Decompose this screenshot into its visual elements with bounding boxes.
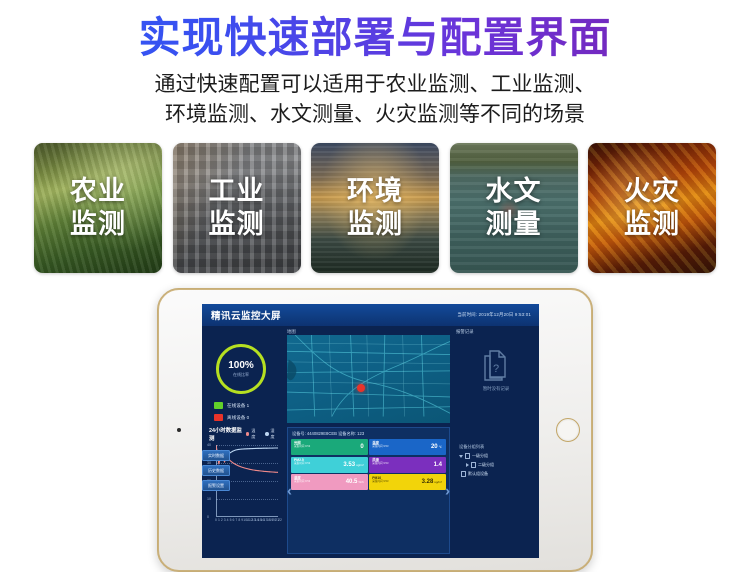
chart-xtick: 1	[218, 518, 220, 522]
chart-point	[255, 470, 256, 471]
chart-x-tick-labels: 012345678910111213141516171819202122	[216, 518, 280, 525]
chart-xtick: 22	[278, 518, 282, 522]
chart-point	[269, 448, 270, 449]
chart-point	[255, 448, 256, 449]
card-label-line-2: 监测	[347, 208, 403, 241]
online-rate-gauge: 100% 在线比率	[216, 344, 266, 394]
device-group-caption: 设备分组列表	[459, 444, 535, 450]
chart-xtick: 0	[215, 518, 217, 522]
category-card-environment[interactable]: 环境 监测	[311, 143, 439, 273]
device-group-tree: 设备分组列表 一级分组 二级分组 默	[459, 444, 535, 480]
chart-point	[246, 448, 247, 449]
chart-point	[275, 448, 276, 449]
sensor-tile-pm25[interactable]: PM2.5 采集时间 9:53 3.53ug/m³	[291, 457, 368, 473]
tree-node-label: 二级分组	[478, 462, 494, 468]
chart-point	[272, 472, 273, 473]
sensor-tile-light[interactable]: 光照 采集时间 9:53 0	[291, 439, 368, 455]
chart-xtick: 2	[221, 518, 223, 522]
chart-point	[252, 469, 253, 470]
gauge-value: 100%	[228, 360, 254, 371]
chart-x-axis	[216, 516, 278, 517]
chart-point	[252, 448, 253, 449]
current-time-label: 当前时间: 2019年12月20日 9:53:01	[457, 312, 531, 318]
sensor-value: 20℃	[431, 444, 442, 450]
chart-point	[272, 448, 273, 449]
subtitle-line-1: 通过快速配置可以适用于农业监测、工业监测、	[0, 70, 750, 100]
category-card-list: 农业 监测 工业 监测 环境 监测 水文 测量	[34, 143, 716, 273]
tree-node-level-1[interactable]: 一级分组	[459, 453, 535, 459]
chart-point	[249, 448, 250, 449]
alarm-records-caption: 报警记录	[456, 329, 539, 335]
chart-point	[241, 466, 242, 467]
device-id-label: 设备号: 4440829E8CEB 设备名称: 123	[288, 428, 449, 439]
chart-xtick: 4	[227, 518, 229, 522]
home-button[interactable]	[556, 418, 580, 442]
device-detail-panel: 设备号: 4440829E8CEB 设备名称: 123 光照 采集时间 9:53…	[287, 427, 450, 554]
sensor-timestamp: 采集时间 9:53	[294, 445, 365, 448]
card-label-environment: 环境 监测	[311, 143, 439, 273]
chevron-right-icon[interactable]	[466, 463, 469, 467]
category-card-fire[interactable]: 火灾 监测	[588, 143, 716, 273]
chart-gridline	[216, 499, 278, 500]
sensor-value: 1.4	[434, 462, 442, 468]
dashboard-right-column: 报警记录 ? 暂时没有记录 设备分组列表	[453, 326, 539, 558]
legend-swatch-offline	[214, 414, 223, 421]
card-label-hydrology: 水文 测量	[450, 143, 578, 273]
tablet-device: 精讯云监控大屏 当前时间: 2019年12月20日 9:53:01 100% 在…	[157, 288, 593, 572]
page-subtitle: 通过快速配置可以适用于农业监测、工业监测、 环境监测、水文测量、火灾监测等不同的…	[0, 70, 750, 130]
card-label-line-2: 监测	[209, 208, 265, 241]
chart-point	[269, 471, 270, 472]
sensor-value: 40.5%rh	[346, 479, 364, 485]
legend-item-online: 在线设备 1	[214, 402, 249, 409]
sensor-value-number: 3.28	[422, 479, 434, 485]
chart-point	[235, 450, 236, 451]
chart-ytick-10: 10	[207, 497, 211, 501]
alarm-settings-button[interactable]: 报警设置	[202, 480, 230, 491]
category-card-hydrology[interactable]: 水文 测量	[450, 143, 578, 273]
chart-point	[249, 469, 250, 470]
sensor-tile-temperature[interactable]: 温度 采集时间 9:53 20℃	[369, 439, 446, 455]
next-device-arrow-icon[interactable]: ›	[445, 483, 450, 498]
dashboard-center-column: 地图	[284, 326, 453, 558]
chart-point	[238, 449, 239, 450]
chart-legend-label-humidity: 湿度	[271, 428, 278, 440]
chart-ytick-40: 40	[207, 443, 211, 447]
tree-node-label: 默认组设备	[468, 471, 488, 477]
legend-label-online: 在线设备 1	[227, 403, 249, 409]
chart-point	[241, 449, 242, 450]
folder-icon	[471, 462, 476, 468]
sensor-unit: ℃	[439, 445, 442, 449]
card-label-line-2: 监测	[624, 208, 680, 241]
card-label-agriculture: 农业 监测	[34, 143, 162, 273]
folder-icon	[465, 453, 470, 459]
tree-node-level-2[interactable]: 二级分组	[466, 462, 535, 468]
chart-point	[235, 464, 236, 465]
card-label-line-2: 监测	[70, 208, 126, 241]
chart-legend: 温度 湿度	[246, 428, 278, 440]
sensor-tile-grid: 光照 采集时间 9:53 0 温度 采集时间 9:53 20℃ PM2.5	[288, 439, 449, 493]
chart-point	[232, 451, 233, 452]
card-label-line-2: 测量	[486, 208, 542, 241]
chart-header: 24小时数据监测 温度 湿度	[207, 426, 280, 442]
map-road-lines	[287, 335, 450, 417]
sensor-tile-humidity[interactable]: 湿度 采集时间 9:53 40.5%rh	[291, 474, 368, 490]
sensor-tile-windspeed[interactable]: 风速 采集时间 9:53 1.4	[369, 457, 446, 473]
device-location-map[interactable]	[287, 335, 450, 423]
sensor-value: 3.53ug/m³	[343, 462, 363, 468]
category-card-agriculture[interactable]: 农业 监测	[34, 143, 162, 273]
alarm-empty-state: ? 暂时没有记录	[453, 348, 539, 392]
chart-point	[246, 468, 247, 469]
chart-xtick: 7	[235, 518, 237, 522]
chart-legend-dot-humidity	[265, 432, 269, 436]
sensor-unit: ug/m³	[434, 480, 442, 484]
card-label-fire: 火灾 监测	[588, 143, 716, 273]
chart-legend-dot-temperature	[246, 432, 250, 436]
realtime-data-button[interactable]: 实时数据	[202, 450, 230, 461]
sensor-value: 3.28ug/m³	[422, 479, 442, 485]
dashboard-left-column: 100% 在线比率 在线设备 1 离线设备 0	[202, 326, 284, 558]
chart-point	[232, 462, 233, 463]
chart-point	[258, 448, 259, 449]
sensor-tile-pm10[interactable]: PM10 采集时间 9:53 3.28ug/m³	[369, 474, 446, 490]
sensor-value-number: 40.5	[346, 479, 358, 485]
chart-point	[261, 470, 262, 471]
chart-point	[244, 448, 245, 449]
chart-point	[263, 471, 264, 472]
chevron-down-icon[interactable]	[459, 455, 463, 458]
card-label-line-1: 农业	[70, 175, 126, 208]
chart-legend-item-humidity: 温度	[246, 428, 259, 440]
sensor-timestamp: 采集时间 9:53	[372, 462, 443, 465]
history-data-button[interactable]: 历史数据	[202, 465, 230, 476]
chart-xtick: 8	[238, 518, 240, 522]
card-label-industry: 工业 监测	[173, 143, 301, 273]
legend-swatch-online	[214, 402, 223, 409]
chart-ytick-0: 0	[207, 515, 209, 519]
chart-point	[244, 467, 245, 468]
svg-text:?: ?	[493, 363, 499, 375]
chart-point	[266, 471, 267, 472]
gauge-caption: 在线比率	[233, 372, 249, 378]
dashboard-title: 精讯云监控大屏	[211, 308, 281, 322]
chart-legend-label-temperature: 温度	[251, 428, 258, 440]
subtitle-line-2: 环境监测、水文测量、火灾监测等不同的场景	[0, 100, 750, 130]
page-title: 实现快速部署与配置界面	[0, 10, 750, 66]
dashboard-screen: 精讯云监控大屏 当前时间: 2019年12月20日 9:53:01 100% 在…	[202, 304, 539, 558]
tree-node-label: 一级分组	[472, 453, 488, 459]
alarm-empty-text: 暂时没有记录	[483, 386, 509, 392]
sensor-value: 0	[360, 444, 363, 450]
device-status-legend: 在线设备 1 离线设备 0	[214, 402, 249, 426]
chart-point	[275, 472, 276, 473]
chart-xtick: 5	[230, 518, 232, 522]
chart-legend-item-temperature: 湿度	[265, 428, 278, 440]
chart-point	[261, 448, 262, 449]
legend-label-offline: 离线设备 0	[227, 415, 249, 421]
chart-xtick: 6	[233, 518, 235, 522]
sensor-value-number: 20	[431, 444, 438, 450]
chart-point	[266, 448, 267, 449]
card-label-line-1: 火灾	[624, 175, 680, 208]
prev-device-arrow-icon[interactable]: ‹	[287, 483, 292, 498]
card-label-line-1: 水文	[486, 175, 542, 208]
dashboard-body: 100% 在线比率 在线设备 1 离线设备 0	[202, 326, 539, 558]
front-camera-icon	[177, 428, 181, 432]
card-label-line-1: 环境	[347, 175, 403, 208]
category-card-industry[interactable]: 工业 监测	[173, 143, 301, 273]
card-label-line-1: 工业	[209, 175, 265, 208]
sensor-value-number: 3.53	[343, 462, 355, 468]
chart-xtick: 3	[224, 518, 226, 522]
sensor-unit: %rh	[358, 480, 363, 484]
legend-item-offline: 离线设备 0	[214, 414, 249, 421]
chart-title: 24小时数据监测	[209, 426, 246, 442]
chart-point	[258, 470, 259, 471]
document-question-icon: ?	[481, 348, 511, 382]
chart-point	[238, 465, 239, 466]
dashboard-header: 精讯云监控大屏 当前时间: 2019年12月20日 9:53:01	[202, 304, 539, 326]
folder-icon	[461, 471, 466, 477]
sensor-unit: ug/m³	[356, 463, 364, 467]
chart-point	[263, 448, 264, 449]
promo-page: 实现快速部署与配置界面 通过快速配置可以适用于农业监测、工业监测、 环境监测、水…	[0, 0, 750, 572]
tree-node-default-group[interactable]: 默认组设备	[461, 471, 535, 477]
device-action-buttons: 实时数据 历史数据 报警设置	[202, 450, 228, 495]
